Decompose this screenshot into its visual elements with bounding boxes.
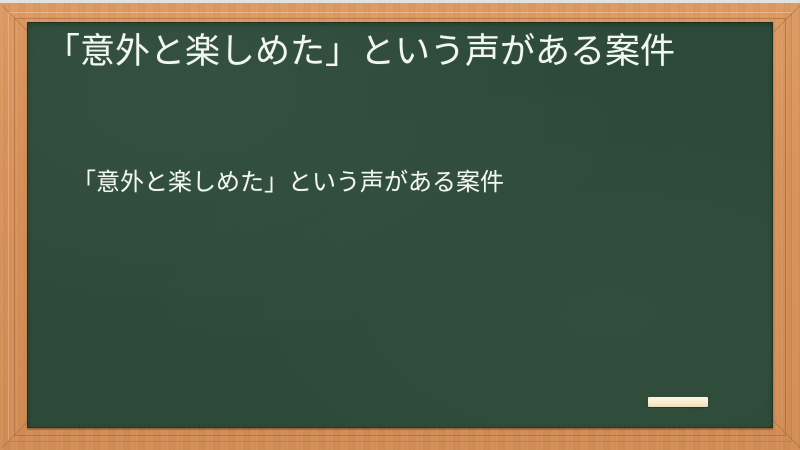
chalk-ledge (27, 428, 773, 430)
board-title: 「意外と楽しめた」という声がある案件 (45, 28, 751, 76)
chalkboard-scene: 「意外と楽しめた」という声がある案件 「意外と楽しめた」という声がある案件 (0, 0, 800, 450)
chalkboard-surface: 「意外と楽しめた」という声がある案件 「意外と楽しめた」という声がある案件 (27, 22, 773, 428)
chalk-stick (648, 397, 708, 407)
board-subtitle: 「意外と楽しめた」という声がある案件 (72, 165, 752, 199)
